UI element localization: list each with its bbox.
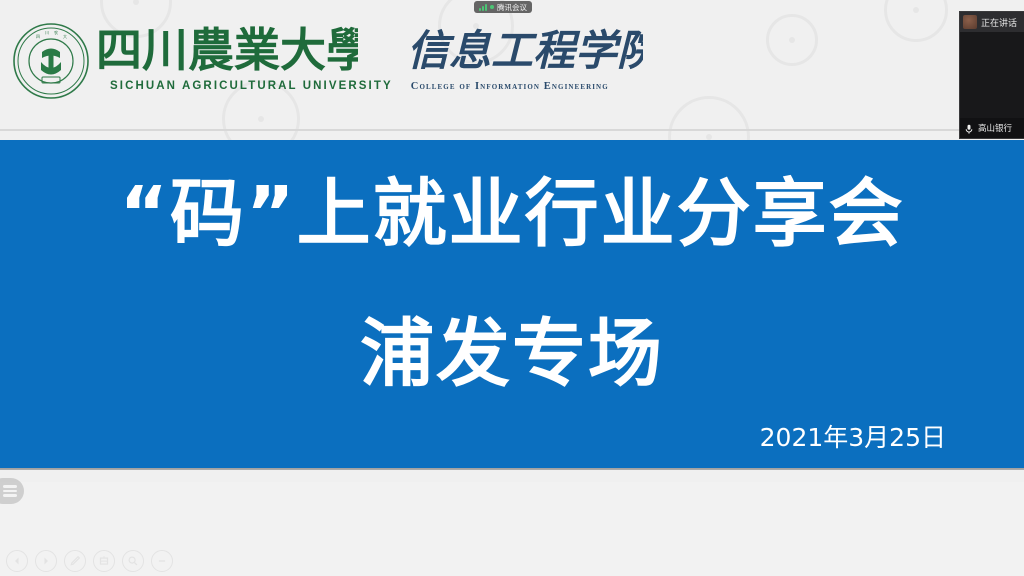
meeting-app-name: 腾讯会议 (497, 2, 527, 13)
university-name-en: SICHUAN AGRICULTURAL UNIVERSITY (110, 80, 393, 92)
slide-title-main: “码”上就业行业分享会 (0, 176, 1024, 254)
meeting-app-badge[interactable]: 腾讯会议 (474, 1, 532, 13)
svg-text:农: 农 (54, 29, 58, 35)
participant-name-bar: 高山银行 (960, 118, 1024, 138)
institution-logo-row: 四川 农大 四川農業大學 SICHUAN AGRICULTURAL UNIVER… (12, 22, 643, 100)
video-feed[interactable] (960, 32, 1024, 118)
university-name-cn: 四川農業大學 (96, 22, 393, 78)
svg-text:信息工程学院: 信息工程学院 (407, 26, 643, 75)
screen-root: 四川 农大 四川農業大學 SICHUAN AGRICULTURAL UNIVER… (0, 0, 1024, 576)
participant-name: 高山银行 (978, 122, 1012, 134)
svg-text:大: 大 (63, 33, 67, 39)
status-dot-icon (490, 5, 494, 9)
previous-slide-button[interactable] (6, 550, 28, 572)
speaking-status-bar: 正在讲话 (960, 12, 1024, 32)
college-name-cn: 信息工程学院 (407, 22, 643, 78)
avatar-icon (963, 15, 977, 29)
signal-bars-icon (479, 4, 487, 11)
slide-date: 2021年3月25日 (760, 418, 946, 454)
slide-header: 四川 农大 四川農業大學 SICHUAN AGRICULTURAL UNIVER… (0, 0, 1024, 131)
zoom-out-button[interactable] (151, 550, 173, 572)
viewer-chrome (0, 482, 1024, 576)
college-name-block: 信息工程学院 College of Information Engineerin… (407, 22, 643, 92)
slide-title-sub: 浦发专场 (0, 316, 1024, 394)
svg-text:四川農業大學: 四川農業大學 (96, 23, 358, 77)
microphone-icon (963, 122, 975, 134)
svg-text:川: 川 (45, 30, 49, 35)
pen-annotate-button[interactable] (64, 550, 86, 572)
university-name-block: 四川農業大學 SICHUAN AGRICULTURAL UNIVERSITY (96, 22, 393, 92)
college-name-en: College of Information Engineering (411, 81, 643, 92)
fit-frame-button[interactable] (93, 550, 115, 572)
title-band: “码”上就业行业分享会 浦发专场 2021年3月25日 (0, 140, 1024, 468)
zoom-in-button[interactable] (122, 550, 144, 572)
shared-slide: 四川 农大 四川農業大學 SICHUAN AGRICULTURAL UNIVER… (0, 0, 1024, 470)
svg-text:四: 四 (36, 34, 40, 39)
participant-video-panel[interactable]: 正在讲话 高山银行 (960, 12, 1024, 138)
slide-toolbar (6, 550, 173, 572)
university-seal-icon: 四川 农大 (12, 22, 90, 100)
header-divider (0, 129, 1024, 131)
next-slide-button[interactable] (35, 550, 57, 572)
speaking-label: 正在讲话 (981, 16, 1017, 29)
slide-bottom-shadow (0, 468, 1024, 470)
hamburger-menu-icon[interactable] (0, 478, 24, 504)
